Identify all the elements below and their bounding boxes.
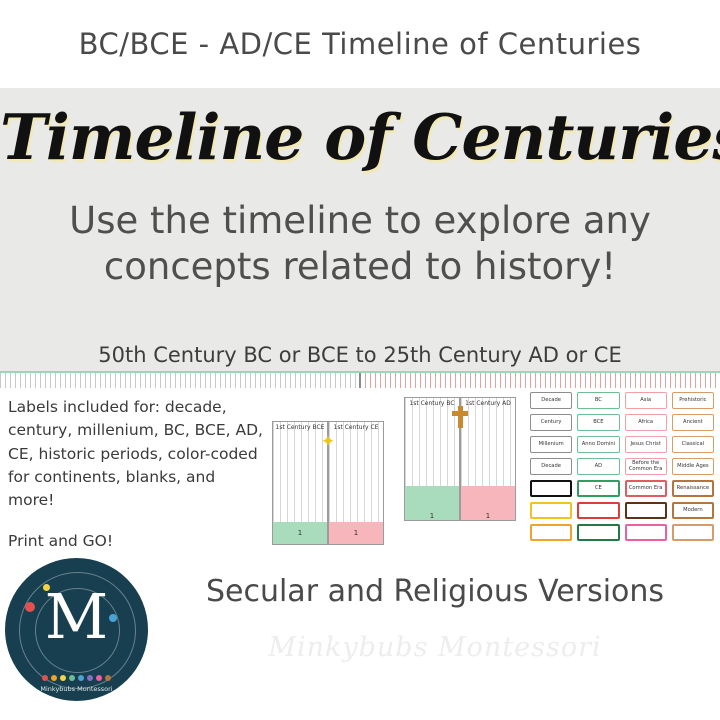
chip-row: Century BCE Africa Ancient [530,414,714,431]
sample-card-ce-caption: 1st Century CE [329,422,383,432]
label-chip: Ancient [672,414,714,431]
sample-card-bc-footer: 1 [405,486,459,520]
chip-row: Modern [530,502,714,519]
ruler-bc-half [0,373,360,388]
poster: BC/BCE - AD/CE Timeline of Centuries Tim… [0,0,720,720]
features-text: Labels included for: decade, century, mi… [8,396,264,512]
label-chip [577,502,619,519]
label-chip [625,524,667,541]
hero-range: 50th Century BC or BCE to 25th Century A… [0,343,720,367]
label-chip: Jesus Christ [625,436,667,453]
cross-icon [452,406,468,428]
sample-card-ad-caption: 1st Century AD [461,398,515,408]
label-chip: Millenium [530,436,572,453]
chip-row: CE Common Era Renaissance [530,480,714,497]
lower-section: Labels included for: decade, century, mi… [0,392,720,720]
label-chip [577,524,619,541]
label-chip: Century [530,414,572,431]
sample-card-bce-footer: 1 [273,522,327,544]
label-chip: Classical [672,436,714,453]
ruler-ad-half [360,373,720,388]
label-chip [672,524,714,541]
label-chip [530,524,572,541]
label-chip: Africa [625,414,667,431]
label-chip: Decade [530,392,572,409]
label-chip: AD [577,458,619,475]
label-chip [530,480,572,497]
sample-card-ad: 1st Century AD 1 [460,397,516,521]
label-chip: Before the Common Era [625,458,667,475]
label-chip [530,502,572,519]
chip-row [530,524,714,541]
logo-letter: M [5,586,148,648]
chip-row: Decade BC Asia Prehistoric [530,392,714,409]
hero-panel: Timeline of Centuries Use the timeline t… [0,88,720,371]
label-chip: Anno Domini [577,436,619,453]
chip-row: Millenium Anno Domini Jesus Christ Class… [530,436,714,453]
hero-subhead: Use the timeline to explore any concepts… [10,198,710,291]
page-title: BC/BCE - AD/CE Timeline of Centuries [79,27,642,61]
timeline-ruler [0,371,720,394]
versions-text: Secular and Religious Versions [150,574,720,609]
label-chip [625,502,667,519]
label-chip: BCE [577,414,619,431]
print-and-go-text: Print and GO! [8,532,113,550]
sample-card-ce-footer: 1 [329,522,383,544]
sample-card-bc-caption: 1st Century BC [405,398,459,408]
label-chip: Middle Ages [672,458,714,475]
label-chips-grid: Decade BC Asia Prehistoric Century BCE A… [530,392,714,546]
label-chip: Common Era [625,480,667,497]
star-icon: ✦ [319,433,337,451]
ruler-center-mark [359,373,361,388]
label-chip: BC [577,392,619,409]
label-chip: Renaissance [672,480,714,497]
label-chip: Asia [625,392,667,409]
label-chip: CE [577,480,619,497]
label-chip: Prehistoric [672,392,714,409]
header-bar: BC/BCE - AD/CE Timeline of Centuries [0,0,720,88]
brand-name: Minkybubs Montessori [150,632,720,663]
chip-row: Decade AD Before the Common Era Middle A… [530,458,714,475]
sample-card-bce-caption: 1st Century BCE [273,422,327,432]
sample-card-ad-footer: 1 [461,486,515,520]
logo-name: Minkybubs Montessori [5,685,148,693]
hero-script-title: Timeline of Centuries [0,100,720,174]
logo-color-dots [5,675,148,681]
brand-logo: M Minkybubs Montessori [5,558,148,701]
label-chip: Modern [672,502,714,519]
label-chip: Decade [530,458,572,475]
